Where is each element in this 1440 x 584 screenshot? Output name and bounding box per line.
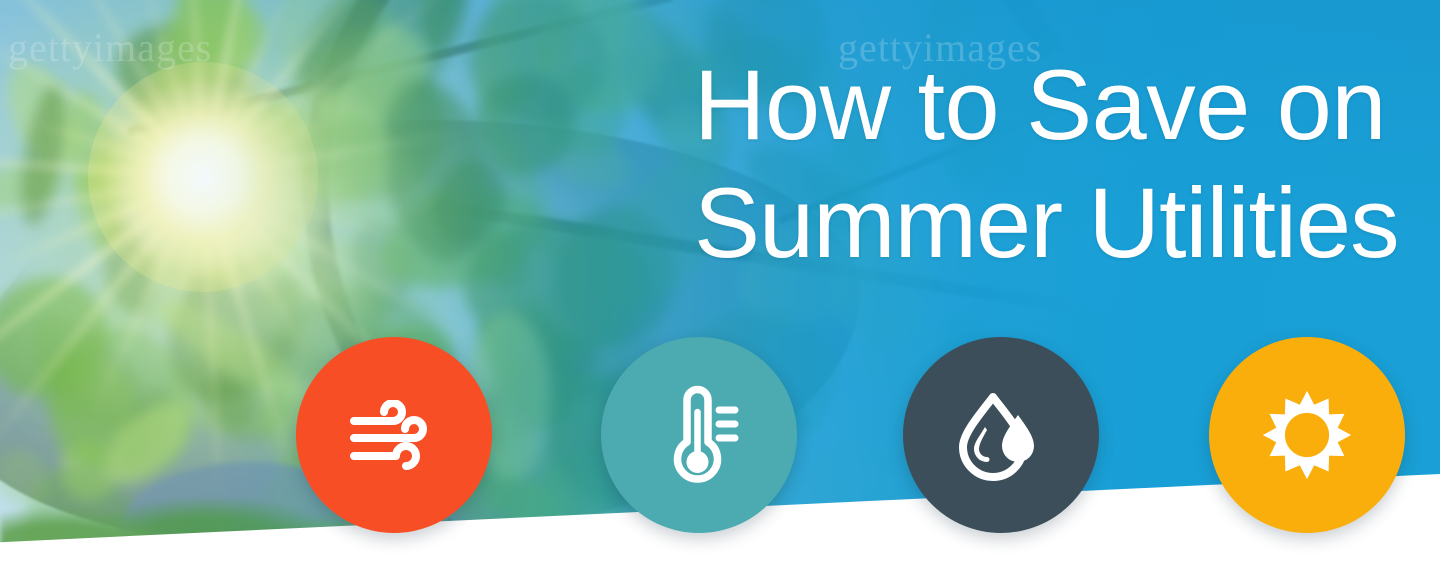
headline-line-1: How to Save on: [694, 46, 1418, 164]
sun-icon: [1259, 387, 1355, 483]
headline-line-2: Summer Utilities: [694, 164, 1418, 282]
thermometer-icon: [657, 382, 741, 488]
wind-icon: [348, 400, 440, 470]
icon-circle-wind[interactable]: [296, 337, 492, 533]
icon-circle-sun[interactable]: [1209, 337, 1405, 533]
summer-utilities-banner: gettyimages gettyimages gettyimages How …: [0, 0, 1440, 584]
icon-circle-water-drop[interactable]: [903, 337, 1099, 533]
page-title: How to Save on Summer Utilities: [694, 46, 1418, 282]
icon-circle-thermometer[interactable]: [601, 337, 797, 533]
watermark-top-left: gettyimages: [8, 24, 212, 71]
water-drop-icon: [955, 389, 1047, 481]
